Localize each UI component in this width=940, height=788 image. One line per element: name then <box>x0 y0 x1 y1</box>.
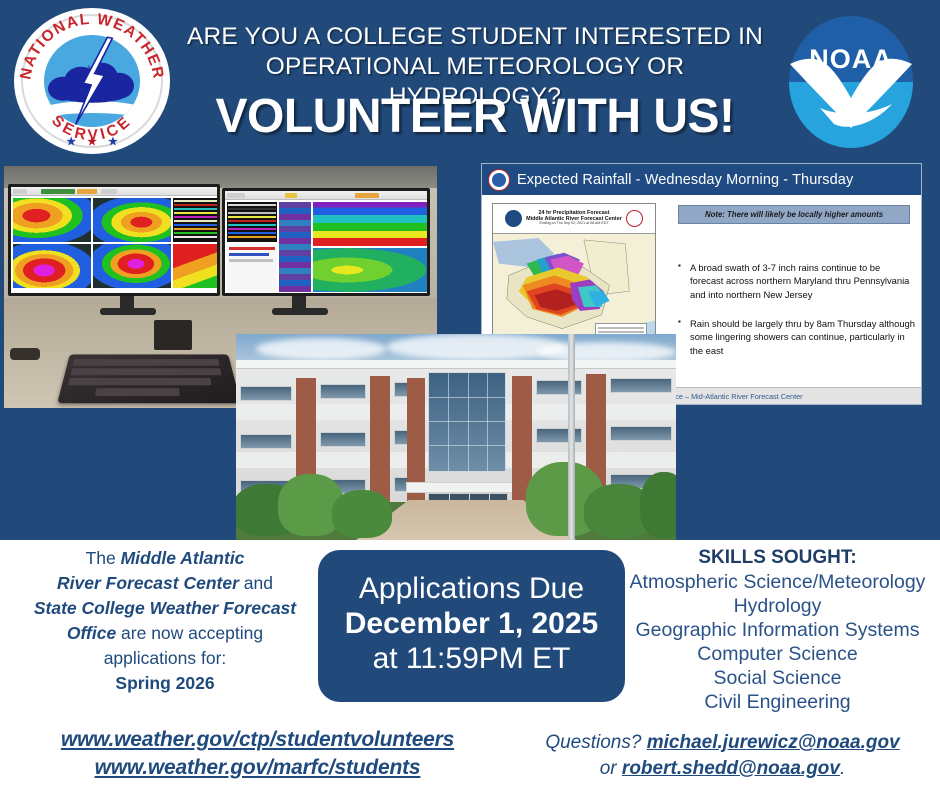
building-atrium-glass <box>428 372 506 472</box>
applications-due-badge: Applications Due December 1, 2025 at 11:… <box>318 550 625 702</box>
seal-stars-icon: ★★★ <box>66 137 118 148</box>
offices-description: The Middle Atlantic River Forecast Cente… <box>10 546 320 696</box>
rainfall-note: Note: There will likely be locally highe… <box>678 205 910 224</box>
skills-heading: SKILLS SOUGHT: <box>620 546 935 570</box>
link-marfc-students[interactable]: www.weather.gov/marfc/students <box>0 754 515 782</box>
email-michael-jurewicz[interactable]: michael.jurewicz@noaa.gov <box>647 732 900 753</box>
email-robert-shedd[interactable]: robert.shedd@noaa.gov <box>622 758 840 779</box>
nws-mini-seal-icon <box>626 210 643 227</box>
contact-questions: Questions? michael.jurewicz@noaa.gov or … <box>505 730 940 781</box>
badge-line-applications-due: Applications Due <box>318 572 625 607</box>
svg-text:NOAA: NOAA <box>809 44 893 74</box>
org-state-college-wfo-line1: State College Weather Forecast <box>34 598 296 618</box>
skill-item: Geographic Information Systems <box>620 618 935 642</box>
skill-item: Social Science <box>620 666 935 690</box>
nws-seal-mini-icon <box>488 169 510 191</box>
slide-header: Expected Rainfall - Wednesday Morning - … <box>482 164 921 195</box>
text-or: or <box>600 758 622 779</box>
link-ctp-studentvolunteers[interactable]: www.weather.gov/ctp/studentvolunteers <box>0 726 515 754</box>
skill-item: Civil Engineering <box>620 690 935 714</box>
badge-line-time: at 11:59PM ET <box>318 642 625 677</box>
questions-label: Questions? <box>545 732 646 753</box>
slide-bullet: Rain should be largely thru by 8am Thurs… <box>678 317 916 357</box>
slide-bullet-list: A broad swath of 3-7 inch rains continue… <box>678 261 916 373</box>
monitor-right <box>222 188 430 296</box>
text-applications-for: applications for: <box>104 648 227 668</box>
map-caption-line3: Ending on Thu Sep 02, 2021 at 08 AM EDT <box>526 222 622 226</box>
keyboard <box>57 354 241 403</box>
noaa-logo-icon: NOAA <box>780 12 922 152</box>
skills-sought-list: SKILLS SOUGHT: Atmospheric Science/Meteo… <box>620 546 935 715</box>
term-spring-2026: Spring 2026 <box>115 673 214 693</box>
slide-bullet: A broad swath of 3-7 inch rains continue… <box>678 261 916 301</box>
skill-item: Atmospheric Science/Meteorology <box>620 570 935 594</box>
org-middle-atlantic: Middle Atlantic <box>121 548 245 568</box>
main-headline: VOLUNTEER WITH US! <box>180 92 770 142</box>
text-period: . <box>840 758 845 779</box>
skill-item: Computer Science <box>620 642 935 666</box>
org-state-college-wfo-line2: Office <box>67 623 116 643</box>
seal-ring-text: NATIONAL WEATHER SERVICE <box>14 8 170 154</box>
national-weather-service-seal-icon: NATIONAL WEATHER SERVICE ★★★ <box>14 8 170 154</box>
light-pole <box>568 334 575 540</box>
text-accepting: are now accepting <box>116 623 263 643</box>
svg-text:NATIONAL WEATHER: NATIONAL WEATHER <box>17 11 167 81</box>
photo-office-building <box>236 334 676 540</box>
slide-title: Expected Rainfall - Wednesday Morning - … <box>517 172 853 188</box>
footer-section: The Middle Atlantic River Forecast Cente… <box>0 540 940 788</box>
monitor-left <box>8 184 220 296</box>
subheadline-line1: ARE YOU A COLLEGE STUDENT INTERESTED IN <box>180 22 770 52</box>
badge-line-date: December 1, 2025 <box>318 606 625 641</box>
text-and: and <box>239 573 273 593</box>
website-links: www.weather.gov/ctp/studentvolunteers ww… <box>0 726 515 781</box>
noaa-mini-seal-icon <box>505 210 522 227</box>
skill-item: Hydrology <box>620 594 935 618</box>
org-river-forecast-center: River Forecast Center <box>57 573 239 593</box>
volunteer-poster: NATIONAL WEATHER SERVICE ★★★ NOAA ARE YO… <box>0 0 940 788</box>
text-the: The <box>86 548 121 568</box>
